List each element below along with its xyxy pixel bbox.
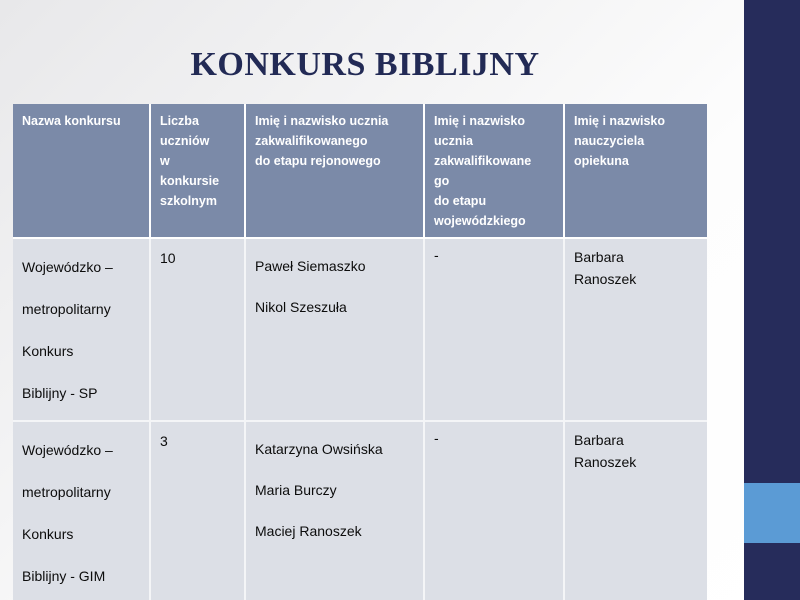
column-header-regional-qualifier: Imię i nazwisko ucznia zakwalifikowanego… <box>246 104 425 239</box>
header-line: uczniów <box>160 131 238 151</box>
cell-voivodeship-qualifier: - <box>425 239 565 422</box>
cell-line: Maciej Ranoszek <box>255 511 417 552</box>
header-line: opiekuna <box>574 151 701 171</box>
column-header-voivodeship-qualifier: Imię i nazwisko ucznia zakwalifikowane g… <box>425 104 565 239</box>
cell-student-count: 3 <box>151 422 246 600</box>
header-row: Nazwa konkursu Liczba uczniów w konkursi… <box>13 104 707 239</box>
header-line: szkolnym <box>160 191 238 211</box>
cell-line: Ranoszek <box>574 268 701 290</box>
cell-regional-qualifier: Paweł Siemaszko Nikol Szeszuła <box>246 239 425 422</box>
cell-line: Katarzyna Owsińska <box>255 429 417 470</box>
table-body: Wojewódzko – metropolitarny Konkurs Bibl… <box>13 239 707 600</box>
cell-line: Biblijny - SP <box>22 372 143 414</box>
column-header-competition-name: Nazwa konkursu <box>13 104 151 239</box>
cell-line: Barbara <box>574 429 701 451</box>
header-line: Imię i nazwisko ucznia <box>255 111 417 131</box>
cell-teacher: Barbara Ranoszek <box>565 422 707 600</box>
header-line: konkursie <box>160 171 238 191</box>
header-line: wojewódzkiego <box>434 211 557 231</box>
cell-line: Ranoszek <box>574 451 701 473</box>
header-line: nauczyciela <box>574 131 701 151</box>
cell-competition-name: Wojewódzko – metropolitarny Konkurs Bibl… <box>13 239 151 422</box>
cell-line: metropolitarny <box>22 471 143 513</box>
slide: KONKURS BIBLIJNY Nazwa konkursu Liczba u… <box>0 0 800 600</box>
cell-line: Nikol Szeszuła <box>255 287 417 328</box>
cell-regional-qualifier: Katarzyna Owsińska Maria Burczy Maciej R… <box>246 422 425 600</box>
cell-line: Wojewódzko – <box>22 246 143 288</box>
right-accent-block <box>744 483 800 543</box>
cell-teacher: Barbara Ranoszek <box>565 239 707 422</box>
table-row: Wojewódzko – metropolitarny Konkurs Bibl… <box>13 422 707 600</box>
cell-line: Biblijny - GIM <box>22 555 143 597</box>
table-header: Nazwa konkursu Liczba uczniów w konkursi… <box>13 104 707 239</box>
cell-line: Wojewódzko – <box>22 429 143 471</box>
header-line: go <box>434 171 557 191</box>
cell-student-count: 10 <box>151 239 246 422</box>
results-table: Nazwa konkursu Liczba uczniów w konkursi… <box>13 104 707 600</box>
cell-line: metropolitarny <box>22 288 143 330</box>
cell-line: Maria Burczy <box>255 470 417 511</box>
header-line: do etapu rejonowego <box>255 151 417 171</box>
cell-voivodeship-qualifier: - <box>425 422 565 600</box>
cell-line: Konkurs <box>22 513 143 555</box>
cell-line: Konkurs <box>22 330 143 372</box>
header-line: Imię i nazwisko <box>574 111 701 131</box>
header-line: zakwalifikowane <box>434 151 557 171</box>
cell-line: Barbara <box>574 246 701 268</box>
cell-line: Paweł Siemaszko <box>255 246 417 287</box>
header-line: Liczba <box>160 111 238 131</box>
page-title: KONKURS BIBLIJNY <box>0 46 730 84</box>
cell-competition-name: Wojewódzko – metropolitarny Konkurs Bibl… <box>13 422 151 600</box>
header-line: ucznia <box>434 131 557 151</box>
column-header-student-count: Liczba uczniów w konkursie szkolnym <box>151 104 246 239</box>
column-header-teacher: Imię i nazwisko nauczyciela opiekuna <box>565 104 707 239</box>
table-row: Wojewódzko – metropolitarny Konkurs Bibl… <box>13 239 707 422</box>
header-line: do etapu <box>434 191 557 211</box>
header-line: Imię i nazwisko <box>434 111 557 131</box>
header-line: w <box>160 151 238 171</box>
header-line: Nazwa konkursu <box>22 111 143 131</box>
header-line: zakwalifikowanego <box>255 131 417 151</box>
